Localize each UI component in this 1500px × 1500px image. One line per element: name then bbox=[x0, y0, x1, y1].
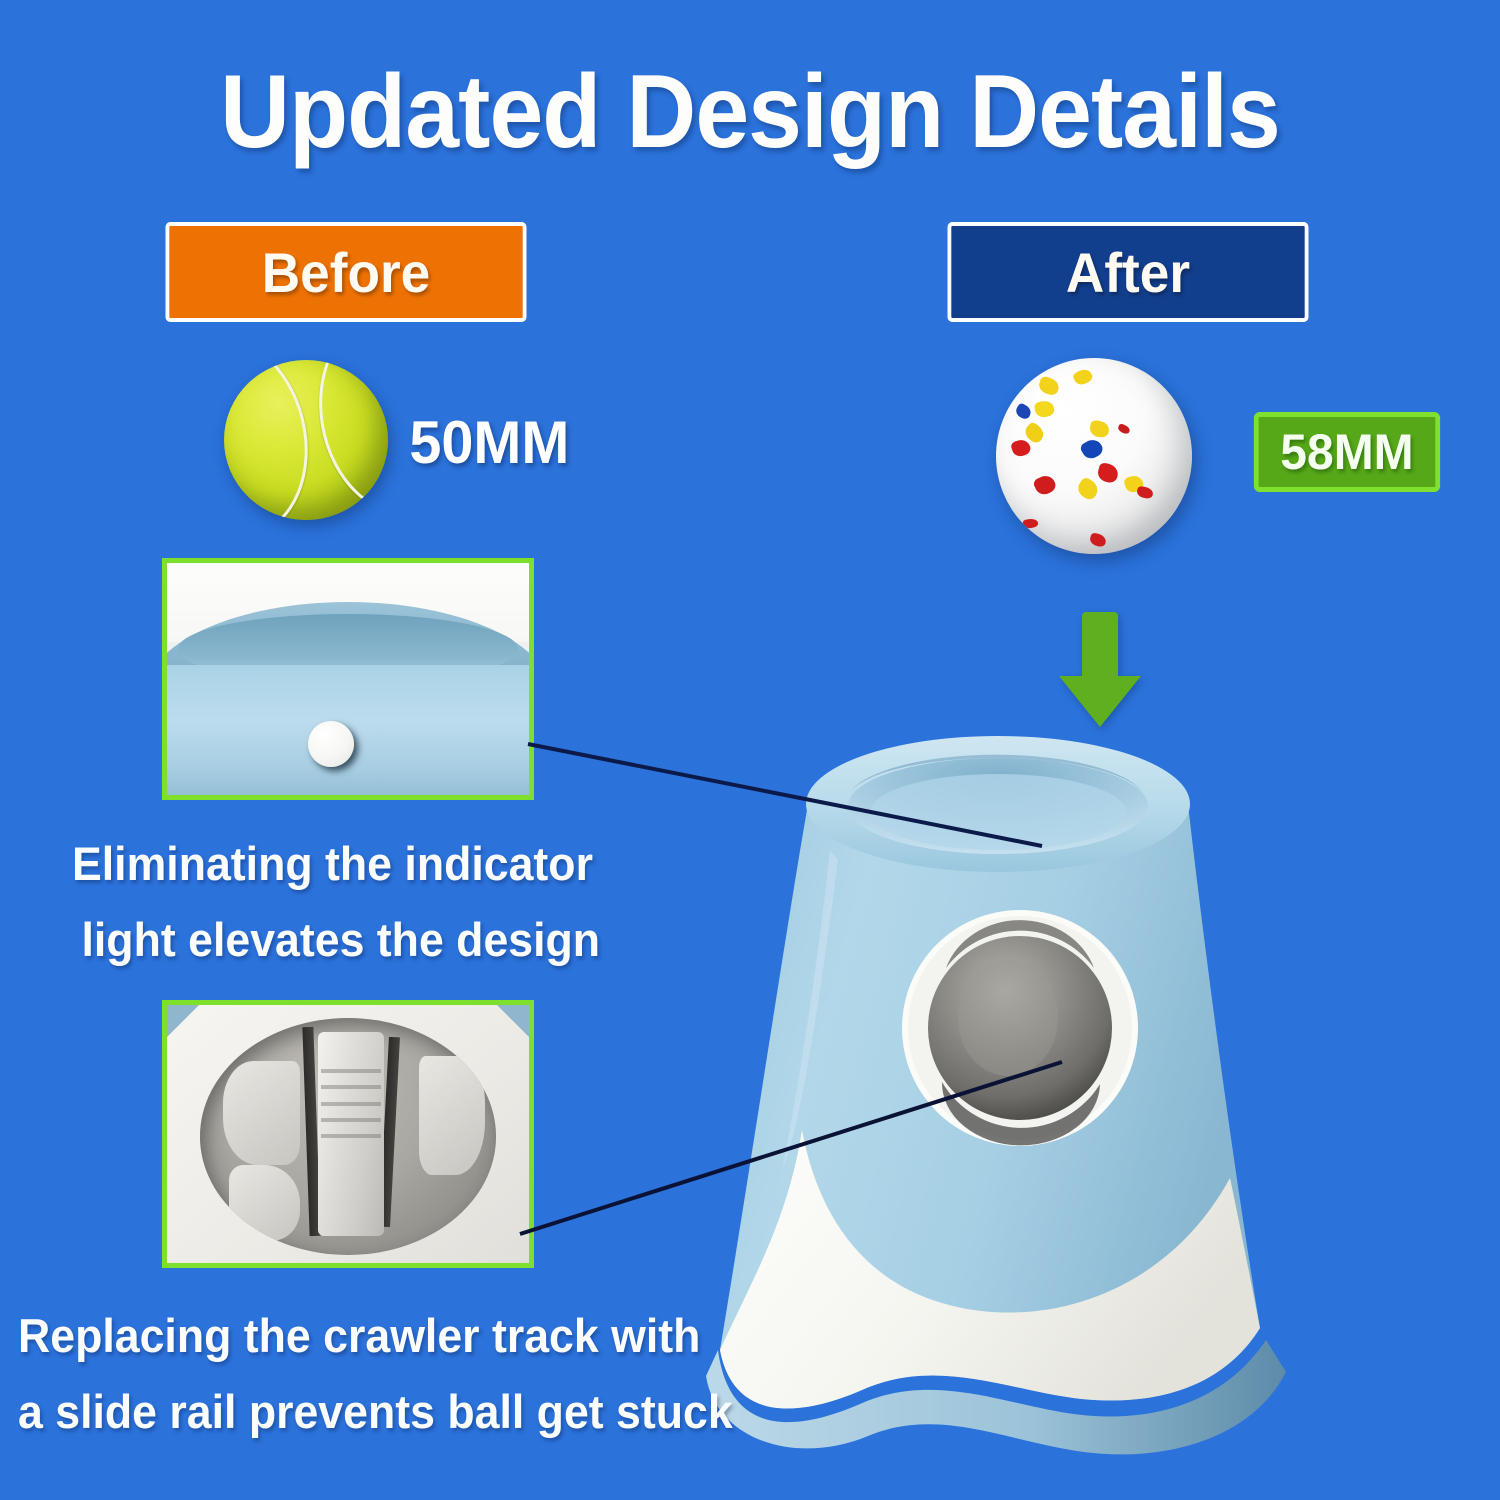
before-badge-label: Before bbox=[262, 240, 431, 305]
page-title: Updated Design Details bbox=[53, 58, 1448, 167]
tennis-ball-image bbox=[224, 360, 388, 520]
tennis-ball-seam bbox=[224, 360, 329, 520]
caption-line: light elevates the design bbox=[72, 902, 600, 978]
indicator-light-icon bbox=[308, 721, 354, 767]
caption-line: Replacing the crawler track with bbox=[18, 1298, 733, 1374]
before-badge: Before bbox=[166, 222, 527, 322]
after-ball-size-label: 58MM bbox=[1280, 423, 1413, 481]
infographic-canvas: Updated Design Details Before After 50MM… bbox=[0, 0, 1500, 1500]
mechanism-vane bbox=[419, 1056, 484, 1175]
detail-photo-slide-rail[interactable] bbox=[162, 1000, 534, 1268]
product-launcher-image bbox=[690, 700, 1330, 1480]
caption-line: Eliminating the indicator bbox=[72, 826, 600, 902]
caption-slide-rail: Replacing the crawler track with a slide… bbox=[18, 1298, 733, 1450]
detail-photo-indicator-light[interactable] bbox=[162, 558, 534, 800]
slider-block bbox=[318, 1032, 383, 1236]
mechanism-vane bbox=[223, 1061, 300, 1165]
confetti-ball-image bbox=[996, 358, 1192, 554]
before-ball-size-label: 50MM bbox=[409, 408, 569, 477]
mechanism-vane bbox=[229, 1165, 300, 1241]
after-ball-size-badge: 58MM bbox=[1254, 412, 1440, 492]
caption-line: a slide rail prevents ball get stuck bbox=[18, 1374, 733, 1450]
caption-indicator-light: Eliminating the indicator light elevates… bbox=[72, 826, 600, 978]
after-badge-label: After bbox=[1066, 240, 1190, 305]
launch-port-interior bbox=[200, 1018, 497, 1255]
tennis-ball-seam bbox=[303, 360, 388, 520]
after-badge: After bbox=[948, 222, 1309, 322]
